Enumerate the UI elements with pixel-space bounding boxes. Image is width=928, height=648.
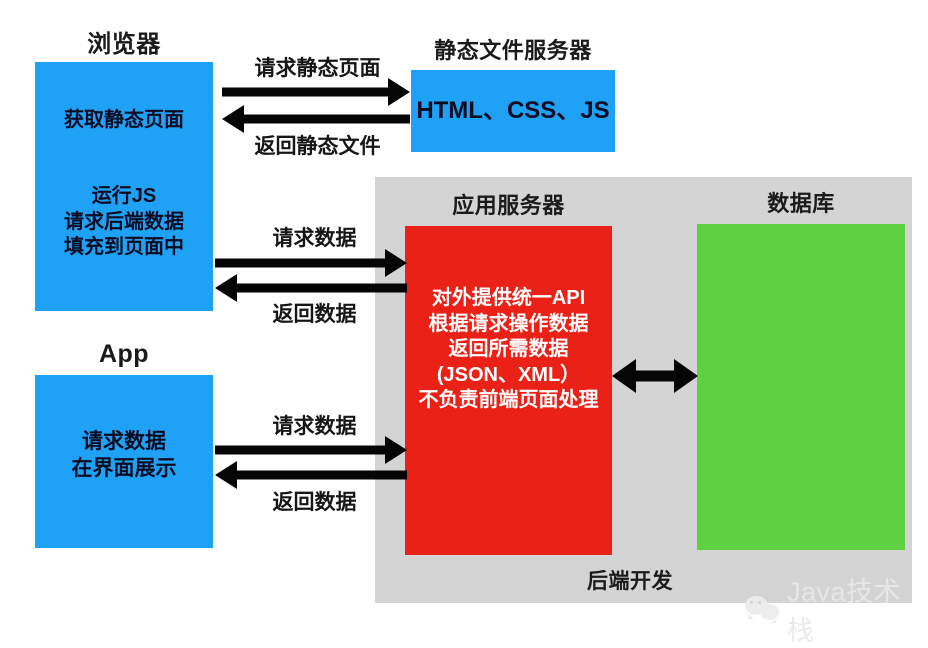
app-server-line-2: 根据请求操作数据 xyxy=(405,312,612,338)
browser-box-line-3: 填充到页面中 xyxy=(35,235,213,261)
app-server-line-1: 对外提供统一API xyxy=(405,286,612,312)
app-server-line-4: (JSON、XML） xyxy=(405,363,612,389)
heading-app-server: 应用服务器 xyxy=(405,188,612,220)
arrow-static-response xyxy=(222,105,410,133)
browser-box-top-text: 获取静态页面 xyxy=(35,108,213,134)
heading-database: 数据库 xyxy=(697,186,905,218)
static-file-server-box: HTML、CSS、JS xyxy=(411,70,615,152)
label-backend-development: 后端开发 xyxy=(540,565,720,595)
arrow-app-data-response xyxy=(215,461,407,489)
wechat-icon xyxy=(745,596,781,622)
arrow-appserver-database-bidirectional xyxy=(612,358,698,394)
app-box-line-2: 在界面展示 xyxy=(35,456,213,483)
label-app-data-response: 返回数据 xyxy=(222,486,407,516)
label-browser-data-response: 返回数据 xyxy=(222,298,407,328)
arrow-static-request xyxy=(222,78,410,106)
watermark-text: Java技术栈 xyxy=(787,570,928,648)
app-box-line-1: 请求数据 xyxy=(35,429,213,456)
heading-app: App xyxy=(35,340,213,369)
heading-browser: 浏览器 xyxy=(35,24,213,59)
label-static-response: 返回静态文件 xyxy=(225,130,410,160)
browser-box-line-2: 请求后端数据 xyxy=(35,210,213,236)
arrow-app-data-request xyxy=(215,436,407,464)
app-server-line-5: 不负责前端页面处理 xyxy=(405,388,612,414)
label-browser-data-request: 请求数据 xyxy=(222,222,407,252)
static-file-server-text: HTML、CSS、JS xyxy=(416,96,609,127)
watermark: Java技术栈 xyxy=(745,570,928,648)
application-server-box: 对外提供统一API 根据请求操作数据 返回所需数据 (JSON、XML） 不负责… xyxy=(405,226,612,555)
app-server-line-3: 返回所需数据 xyxy=(405,337,612,363)
heading-static-file-server: 静态文件服务器 xyxy=(411,33,615,65)
database-box xyxy=(697,224,905,550)
app-box: 请求数据 在界面展示 xyxy=(35,375,213,548)
browser-box-line-1: 运行JS xyxy=(35,184,213,210)
diagram-canvas: 浏览器 静态文件服务器 应用服务器 数据库 App 后端开发 获取静态页面 运行… xyxy=(0,0,928,613)
arrow-browser-data-request xyxy=(215,249,407,277)
browser-box: 获取静态页面 运行JS 请求后端数据 填充到页面中 xyxy=(35,62,213,311)
